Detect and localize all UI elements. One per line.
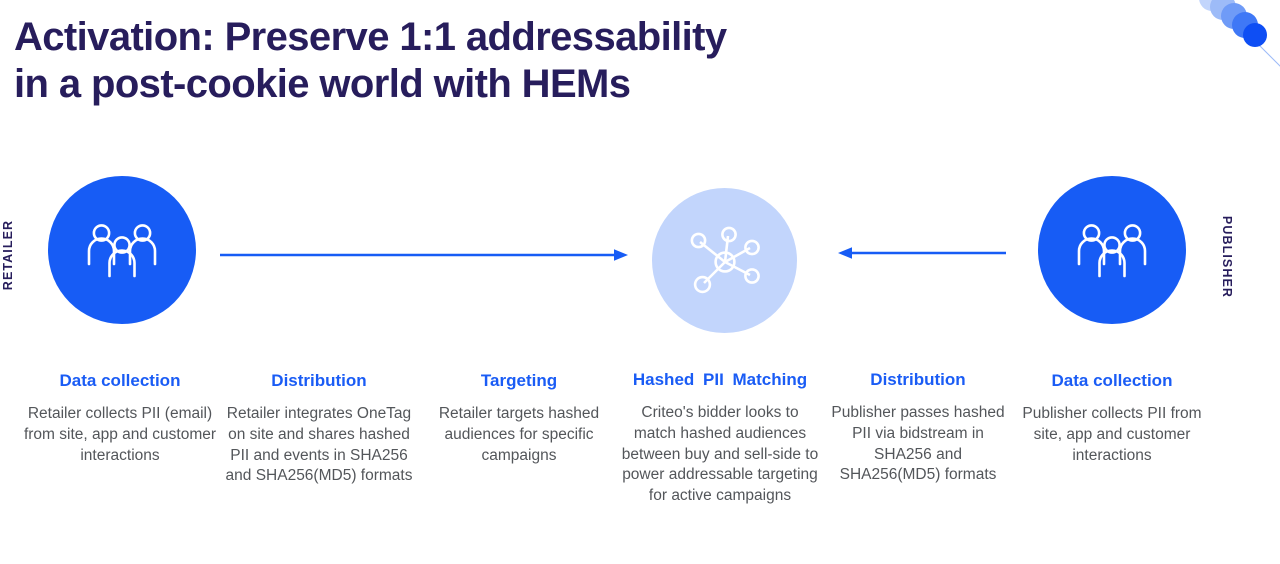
column-data-collection-retailer: Data collection Retailer collects PII (e… [16, 370, 224, 466]
circle-chain-decoration [1190, 0, 1280, 70]
column-heading: Targeting [424, 370, 614, 392]
column-distribution-retailer: Distribution Retailer integrates OneTag … [222, 370, 416, 487]
column-body: Criteo's bidder looks to match hashed au… [620, 403, 820, 507]
column-body: Retailer collects PII (email) from site,… [16, 404, 224, 466]
column-heading: Data collection [16, 370, 224, 392]
column-heading: Data collection [1014, 370, 1210, 392]
node-hashed-pii-hub [652, 188, 797, 333]
column-body: Retailer integrates OneTag on site and s… [222, 404, 416, 487]
column-hashed-pii-matching: Hashed PII Matching Criteo's bidder look… [620, 369, 820, 507]
people-group-icon [1074, 220, 1150, 280]
people-group-icon [84, 220, 160, 280]
column-body: Publisher collects PII from site, app an… [1014, 404, 1210, 466]
page-title: Activation: Preserve 1:1 addressability … [14, 14, 844, 108]
column-heading: Distribution [830, 369, 1006, 391]
page-title-line-1: Activation: Preserve 1:1 addressability [14, 14, 844, 61]
column-body: Retailer targets hashed audiences for sp… [424, 404, 614, 466]
arrow-publisher-to-hub [838, 245, 1006, 261]
column-heading: Hashed PII Matching [620, 369, 820, 391]
network-hub-icon [688, 226, 762, 296]
column-distribution-publisher: Distribution Publisher passes hashed PII… [830, 369, 1006, 486]
side-label-publisher: PUBLISHER [1220, 216, 1234, 298]
column-body: Publisher passes hashed PII via bidstrea… [830, 403, 1006, 486]
column-data-collection-publisher: Data collection Publisher collects PII f… [1014, 370, 1210, 466]
column-heading: Distribution [222, 370, 416, 392]
arrow-retailer-to-hub [220, 247, 628, 263]
page-title-line-2: in a post-cookie world with HEMs [14, 61, 844, 108]
column-targeting: Targeting Retailer targets hashed audien… [424, 370, 614, 466]
node-publisher [1038, 176, 1186, 324]
side-label-retailer: RETAILER [1, 220, 15, 290]
node-retailer [48, 176, 196, 324]
